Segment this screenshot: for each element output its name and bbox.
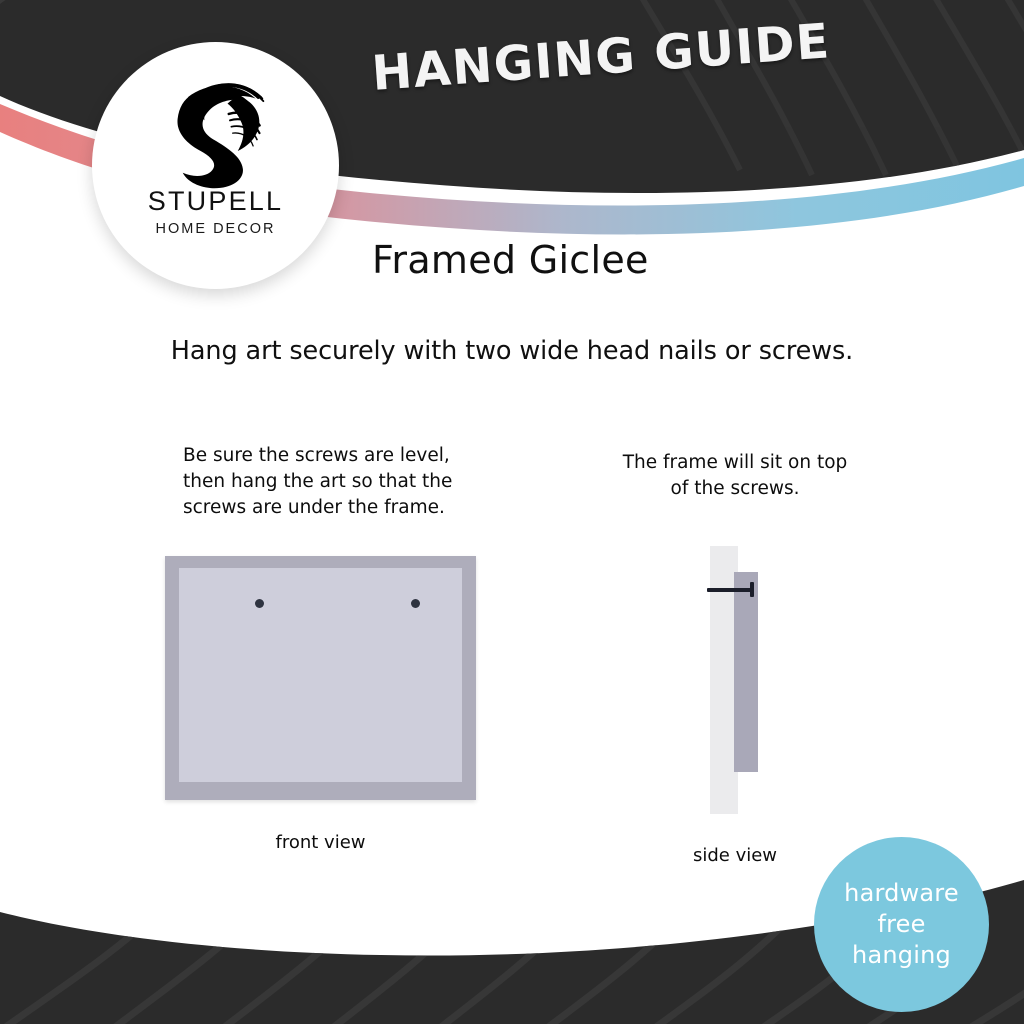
- badge-line-3: hanging: [852, 940, 951, 971]
- hardware-free-hanging-badge: hardware free hanging: [814, 837, 989, 1012]
- front-view-caption-block: Be sure the screws are level, then hang …: [130, 443, 515, 521]
- side-view-label: side view: [640, 845, 830, 866]
- front-caption-line-3: screws are under the frame.: [183, 495, 515, 521]
- brand-subwordmark: HOME DECOR: [156, 222, 276, 237]
- side-view-diagram: [700, 546, 780, 814]
- brand-logo-badge: STUPELL HOME DECOR: [92, 42, 339, 289]
- front-view-caption: Be sure the screws are level, then hang …: [130, 443, 515, 521]
- side-caption-line-2: of the screws.: [570, 476, 900, 502]
- brand-wordmark: STUPELL: [148, 188, 283, 215]
- frame-inner-art: [179, 568, 462, 782]
- hanging-guide-page: STUPELL HOME DECOR HANGING GUIDE Framed …: [0, 0, 1024, 1024]
- front-caption-line-2: then hang the art so that the: [183, 469, 515, 495]
- front-view-label: front view: [165, 832, 476, 853]
- stupell-swirl-logo-icon: [152, 64, 280, 192]
- product-type-label: Framed Giclee: [372, 238, 649, 282]
- main-instruction-text: Hang art securely with two wide head nai…: [0, 336, 1024, 366]
- side-view-screw-head-icon: [750, 582, 754, 597]
- side-view-screw-shaft-icon: [707, 588, 753, 592]
- front-view-diagram: [165, 556, 476, 800]
- side-view-frame: [734, 572, 758, 772]
- front-caption-line-1: Be sure the screws are level,: [183, 443, 515, 469]
- side-view-caption: The frame will sit on top of the screws.: [570, 450, 900, 502]
- side-view-caption-block: The frame will sit on top of the screws.: [570, 450, 900, 502]
- page-title: HANGING GUIDE: [370, 9, 893, 102]
- screw-dot-right: [411, 599, 420, 608]
- badge-line-2: free: [877, 909, 925, 940]
- side-caption-line-1: The frame will sit on top: [570, 450, 900, 476]
- badge-line-1: hardware: [844, 878, 959, 909]
- screw-dot-left: [255, 599, 264, 608]
